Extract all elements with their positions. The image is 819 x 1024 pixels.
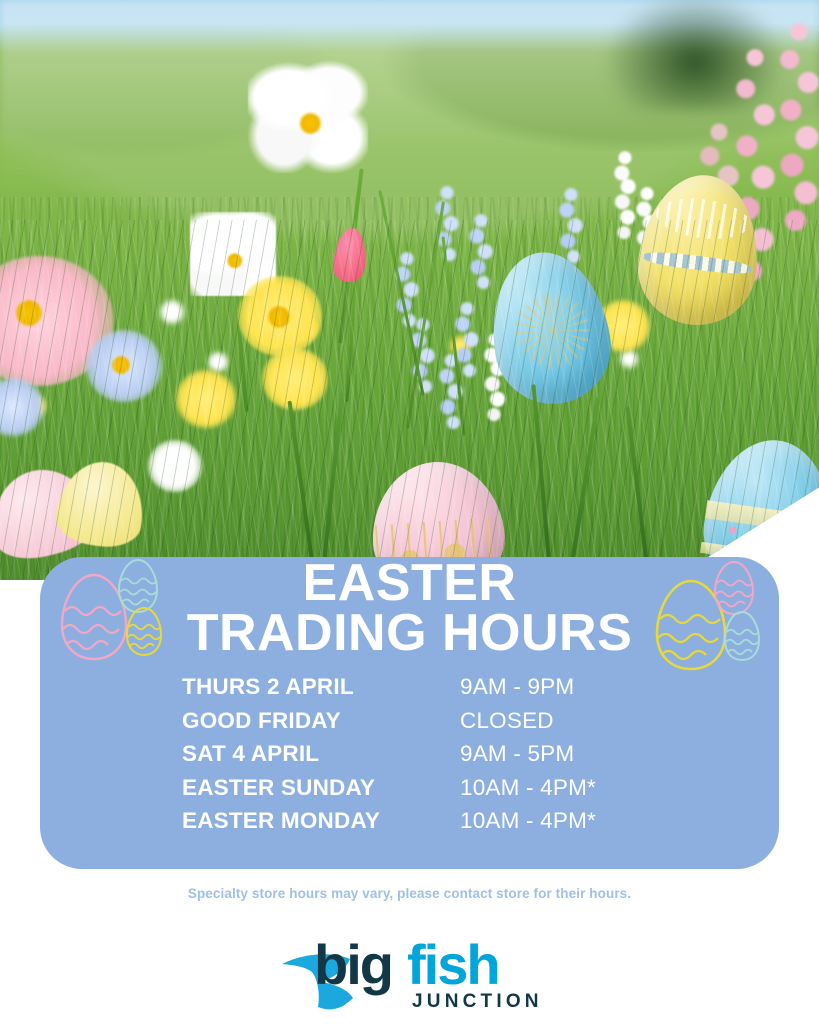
trading-hours-list: THURS 2 APRIL 9AM - 9PM GOOD FRIDAY CLOS…	[182, 674, 652, 842]
white-cosmos-flower	[248, 55, 368, 173]
logo-word-junction: JUNCTION	[412, 991, 543, 1012]
spring-meadow-photo	[0, 0, 819, 580]
hours-day-label: SAT 4 APRIL	[182, 741, 460, 767]
poster-title: EASTER TRADING HOURS	[40, 559, 779, 659]
hours-day-label: EASTER MONDAY	[182, 808, 460, 834]
hours-time-value: 9AM - 9PM	[460, 674, 574, 700]
title-line-2: TRADING HOURS	[40, 609, 779, 659]
trading-hours-panel: EASTER TRADING HOURS THURS 2 APRIL 9AM -…	[40, 557, 779, 869]
hours-row: EASTER SUNDAY 10AM - 4PM*	[182, 775, 652, 809]
hours-row: THURS 2 APRIL 9AM - 9PM	[182, 674, 652, 708]
hours-day-label: GOOD FRIDAY	[182, 708, 460, 734]
hours-time-value: 9AM - 5PM	[460, 741, 574, 767]
disclaimer-text: Specialty store hours may vary, please c…	[0, 886, 819, 901]
logo-word-big: big	[314, 933, 392, 996]
logo-word-fish: fish	[407, 933, 499, 996]
hours-time-value: CLOSED	[460, 708, 554, 734]
logo-artwork: big fish JUNCTION	[276, 928, 544, 1014]
hours-row: EASTER MONDAY 10AM - 4PM*	[182, 808, 652, 842]
hours-day-label: THURS 2 APRIL	[182, 674, 460, 700]
hours-time-value: 10AM - 4PM*	[460, 775, 596, 801]
easter-trading-hours-poster: EASTER TRADING HOURS THURS 2 APRIL 9AM -…	[0, 0, 819, 1024]
title-line-1: EASTER	[40, 559, 779, 609]
hours-time-value: 10AM - 4PM*	[460, 808, 596, 834]
hours-day-label: EASTER SUNDAY	[182, 775, 460, 801]
hours-row: SAT 4 APRIL 9AM - 5PM	[182, 741, 652, 775]
hours-row: GOOD FRIDAY CLOSED	[182, 708, 652, 742]
bigfish-junction-logo: big fish JUNCTION	[0, 928, 819, 1014]
pink-snapdragon	[770, 18, 819, 248]
